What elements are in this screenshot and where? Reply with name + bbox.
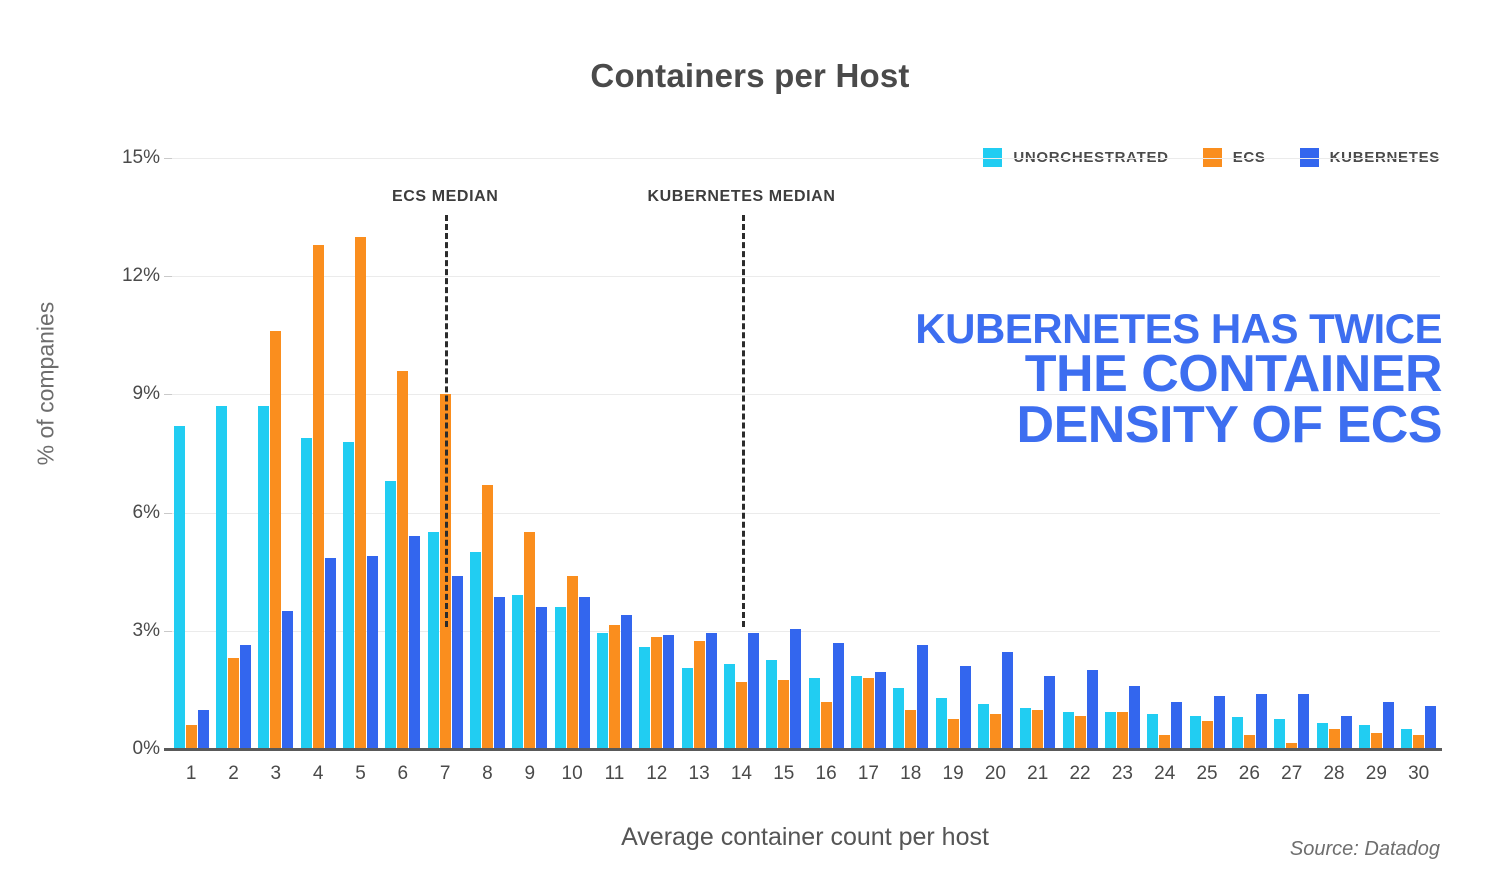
x-tick-label: 1 [170,763,212,785]
bar-kubernetes-5[interactable] [367,556,378,749]
bar-unorchestrated-16[interactable] [809,678,820,749]
bar-group [339,158,381,749]
bar-kubernetes-1[interactable] [198,710,209,749]
bar-ecs-19[interactable] [948,719,959,749]
bar-kubernetes-13[interactable] [706,633,717,749]
bar-kubernetes-22[interactable] [1087,670,1098,749]
bar-ecs-18[interactable] [905,710,916,749]
bar-unorchestrated-23[interactable] [1105,712,1116,749]
bar-kubernetes-14[interactable] [748,633,759,749]
bar-kubernetes-12[interactable] [663,635,674,749]
bar-ecs-16[interactable] [821,702,832,749]
bar-group [932,158,974,749]
bar-kubernetes-25[interactable] [1214,696,1225,749]
bar-ecs-22[interactable] [1075,716,1086,749]
y-tick-label: 0% [108,738,160,760]
bar-group [170,158,212,749]
bar-group [974,158,1016,749]
page-title: Containers per Host [0,57,1500,95]
bar-ecs-3[interactable] [270,331,281,749]
y-tick-label: 6% [108,502,160,524]
bar-ecs-14[interactable] [736,682,747,749]
x-tick-label: 21 [1017,763,1059,785]
bar-kubernetes-19[interactable] [960,666,971,749]
bar-kubernetes-26[interactable] [1256,694,1267,749]
bar-unorchestrated-30[interactable] [1401,729,1412,749]
bar-group [847,158,889,749]
bar-group [382,158,424,749]
bar-ecs-12[interactable] [651,637,662,749]
bar-ecs-8[interactable] [482,485,493,749]
bar-unorchestrated-21[interactable] [1020,708,1031,749]
x-tick-label: 28 [1313,763,1355,785]
bar-kubernetes-11[interactable] [621,615,632,749]
y-tick-label: 3% [108,620,160,642]
x-tick-label: 13 [678,763,720,785]
bar-kubernetes-24[interactable] [1171,702,1182,749]
callout-text: KUBERNETES HAS TWICE THE CONTAINER DENSI… [915,308,1442,451]
x-tick-label: 14 [720,763,762,785]
bar-unorchestrated-4[interactable] [301,438,312,749]
bar-kubernetes-17[interactable] [875,672,886,749]
x-tick-label: 27 [1271,763,1313,785]
x-tick-label: 3 [255,763,297,785]
bar-kubernetes-2[interactable] [240,645,251,749]
bar-ecs-2[interactable] [228,658,239,749]
source-note: Source: Datadog [1290,838,1440,861]
bar-ecs-20[interactable] [990,714,1001,749]
y-tick-label: 12% [108,265,160,287]
callout-line-3: DENSITY OF ECS [915,400,1442,451]
bar-group [212,158,254,749]
bar-ecs-25[interactable] [1202,721,1213,749]
chart-page: Containers per Host % of companies UNORC… [0,0,1500,891]
x-tick-label: 30 [1398,763,1440,785]
bar-group [593,158,635,749]
bar-ecs-29[interactable] [1371,733,1382,749]
bar-kubernetes-29[interactable] [1383,702,1394,749]
x-tick-label: 17 [847,763,889,785]
x-tick-label: 19 [932,763,974,785]
x-tick-label: 8 [466,763,508,785]
bar-ecs-24[interactable] [1159,735,1170,749]
x-axis-ticks: 1234567891011121314151617181920212223242… [170,763,1440,785]
x-axis-line [164,748,1442,751]
bar-unorchestrated-12[interactable] [639,647,650,749]
bar-kubernetes-10[interactable] [579,597,590,749]
x-tick-label: 4 [297,763,339,785]
bar-unorchestrated-5[interactable] [343,442,354,749]
x-tick-label: 23 [1101,763,1143,785]
bar-unorchestrated-17[interactable] [851,676,862,749]
bar-kubernetes-27[interactable] [1298,694,1309,749]
x-tick-label: 26 [1228,763,1270,785]
bar-unorchestrated-9[interactable] [512,595,523,749]
bar-kubernetes-28[interactable] [1341,716,1352,749]
bar-group [551,158,593,749]
bar-ecs-15[interactable] [778,680,789,749]
x-tick-label: 20 [974,763,1016,785]
bar-ecs-30[interactable] [1413,735,1424,749]
y-tick-label: 15% [108,147,160,169]
bar-group [636,158,678,749]
bar-unorchestrated-27[interactable] [1274,719,1285,749]
bar-kubernetes-23[interactable] [1129,686,1140,749]
bar-kubernetes-9[interactable] [536,607,547,749]
x-tick-label: 29 [1355,763,1397,785]
bar-unorchestrated-20[interactable] [978,704,989,749]
x-tick-label: 22 [1059,763,1101,785]
x-axis-title: Average container count per host [170,823,1440,852]
bar-unorchestrated-6[interactable] [385,481,396,749]
bar-group [678,158,720,749]
x-tick-label: 7 [424,763,466,785]
x-tick-label: 2 [212,763,254,785]
bar-ecs-6[interactable] [397,371,408,749]
bar-kubernetes-20[interactable] [1002,652,1013,749]
bar-ecs-9[interactable] [524,532,535,749]
x-tick-label: 11 [593,763,635,785]
bar-kubernetes-30[interactable] [1425,706,1436,749]
bar-group [255,158,297,749]
x-tick-label: 6 [382,763,424,785]
callout-line-1: KUBERNETES HAS TWICE [915,308,1442,349]
bar-ecs-23[interactable] [1117,712,1128,749]
median-line [742,215,745,627]
bar-kubernetes-18[interactable] [917,645,928,749]
x-tick-label: 10 [551,763,593,785]
bar-unorchestrated-28[interactable] [1317,723,1328,749]
x-tick-label: 5 [339,763,381,785]
bar-group [805,158,847,749]
bar-unorchestrated-19[interactable] [936,698,947,749]
bar-unorchestrated-18[interactable] [893,688,904,749]
bar-group [466,158,508,749]
bar-unorchestrated-29[interactable] [1359,725,1370,749]
bar-unorchestrated-8[interactable] [470,552,481,749]
bar-kubernetes-15[interactable] [790,629,801,749]
bar-unorchestrated-22[interactable] [1063,712,1074,749]
bar-group [297,158,339,749]
bar-ecs-1[interactable] [186,725,197,749]
bar-unorchestrated-25[interactable] [1190,716,1201,749]
bar-unorchestrated-13[interactable] [682,668,693,749]
bar-group [763,158,805,749]
median-line [445,215,448,627]
bar-ecs-21[interactable] [1032,710,1043,749]
bar-ecs-11[interactable] [609,625,620,749]
x-tick-label: 9 [509,763,551,785]
x-tick-label: 25 [1186,763,1228,785]
bar-unorchestrated-1[interactable] [174,426,185,749]
bar-kubernetes-4[interactable] [325,558,336,749]
y-tick-label: 9% [108,383,160,405]
bar-unorchestrated-7[interactable] [428,532,439,749]
bar-unorchestrated-24[interactable] [1147,714,1158,749]
bar-kubernetes-8[interactable] [494,597,505,749]
bar-unorchestrated-15[interactable] [766,660,777,749]
bar-group [890,158,932,749]
bar-ecs-13[interactable] [694,641,705,749]
bar-kubernetes-7[interactable] [452,576,463,749]
bar-ecs-17[interactable] [863,678,874,749]
x-tick-label: 16 [805,763,847,785]
bar-unorchestrated-3[interactable] [258,406,269,749]
bar-ecs-4[interactable] [313,245,324,749]
bar-kubernetes-3[interactable] [282,611,293,749]
bar-kubernetes-16[interactable] [833,643,844,749]
median-label: ECS MEDIAN [392,188,498,206]
callout-line-2: THE CONTAINER [915,349,1442,400]
bar-unorchestrated-26[interactable] [1232,717,1243,749]
median-label: KUBERNETES MEDIAN [648,188,836,206]
bar-ecs-10[interactable] [567,576,578,749]
x-tick-label: 18 [890,763,932,785]
bar-kubernetes-6[interactable] [409,536,420,749]
x-tick-label: 15 [763,763,805,785]
bar-unorchestrated-14[interactable] [724,664,735,749]
x-tick-label: 24 [1144,763,1186,785]
bar-ecs-28[interactable] [1329,729,1340,749]
bar-ecs-26[interactable] [1244,735,1255,749]
bar-unorchestrated-11[interactable] [597,633,608,749]
y-axis-title: % of companies [33,299,60,469]
x-tick-label: 12 [636,763,678,785]
bar-ecs-5[interactable] [355,237,366,749]
bar-kubernetes-21[interactable] [1044,676,1055,749]
bar-unorchestrated-10[interactable] [555,607,566,749]
bar-group [509,158,551,749]
bar-unorchestrated-2[interactable] [216,406,227,749]
